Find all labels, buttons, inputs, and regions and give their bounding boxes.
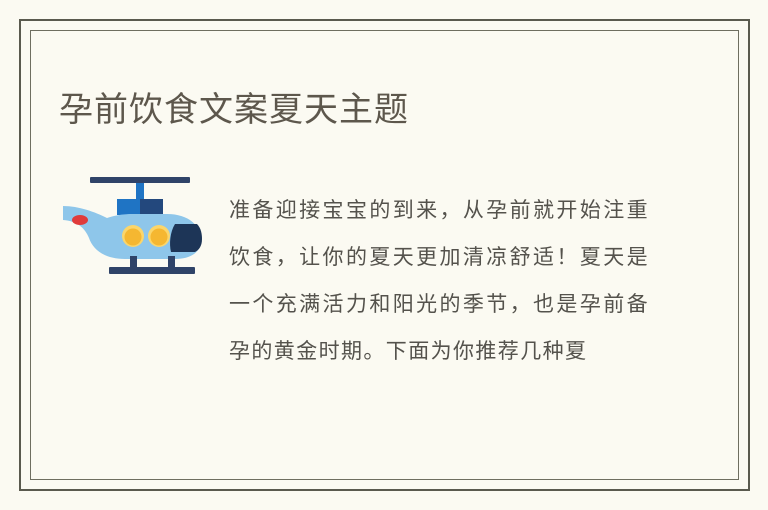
helicopter-illustration [55,168,215,278]
rotor-mast-icon [136,183,144,201]
page-title: 孕前饮食文案夏天主题 [59,86,409,134]
cockpit-window-icon [170,224,202,252]
article-body: 准备迎接宝宝的到来，从孕前就开始注重饮食，让你的夏天更加清凉舒适！夏天是一个充满… [229,187,649,375]
landing-strut-left-icon [130,256,137,268]
article-card: 孕前饮食文案夏天主题 [0,0,768,510]
article-content: 准备迎接宝宝的到来，从孕前就开始注重饮食，让你的夏天更加清凉舒适！夏天是一个充满… [0,160,768,410]
passenger-window-2-inner-icon [151,229,168,246]
passenger-window-1-inner-icon [125,229,142,246]
tail-light-icon [72,215,88,225]
engine-housing-dark-icon [140,199,163,215]
rotor-blade-icon [90,177,190,183]
landing-strut-right-icon [168,256,175,268]
landing-skid-icon [109,267,195,274]
